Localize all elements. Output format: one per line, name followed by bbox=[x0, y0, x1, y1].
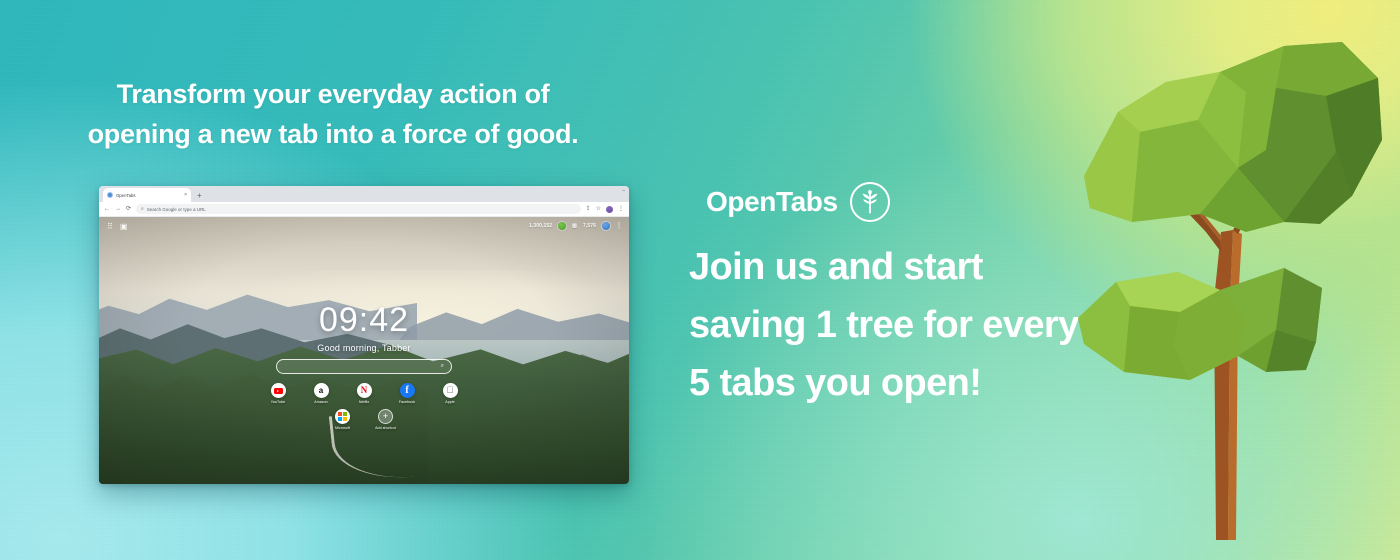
tree-in-circle-icon bbox=[850, 182, 890, 222]
shortcut-label: Microsoft bbox=[335, 426, 350, 430]
shortcut-netflix[interactable]: N Netflix bbox=[348, 383, 380, 404]
clock-block: 09:42 Good morning, Tabber bbox=[99, 303, 629, 353]
apple-icon:  bbox=[443, 383, 458, 398]
youtube-icon bbox=[271, 383, 286, 398]
shortcut-tiles: YouTube a Amazon N Netflix f Facebook  … bbox=[254, 383, 474, 430]
left-headline-line-1: Transform your everyday action of bbox=[0, 74, 666, 114]
omnibox-placeholder: Search Google or type a URL bbox=[147, 207, 206, 212]
tabs-opened-icon: ▥ bbox=[572, 224, 577, 229]
menu-icon[interactable]: ⋮ bbox=[618, 206, 624, 212]
plus-icon: + bbox=[378, 409, 393, 424]
tab-close-icon[interactable]: × bbox=[184, 193, 187, 198]
shortcut-label: Apple bbox=[445, 400, 454, 404]
shortcut-label: Facebook bbox=[399, 400, 415, 404]
window-minimize-button[interactable]: – bbox=[622, 189, 625, 194]
browser-tab-opentabs[interactable]: OpenTabs × bbox=[103, 188, 191, 202]
toolbar-actions: ⇪ ☆ ⋮ bbox=[586, 206, 624, 213]
ntp-menu-icon[interactable]: ⋮ bbox=[616, 223, 622, 229]
promo-banner: Transform your everyday action of openin… bbox=[0, 0, 1400, 560]
bookmark-icon[interactable]: ☆ bbox=[596, 206, 601, 212]
new-tab-button[interactable]: + bbox=[197, 192, 202, 200]
side-panel-icon[interactable]: ▣ bbox=[120, 223, 128, 231]
omnibox-search-icon: ⌕ bbox=[141, 206, 144, 212]
ntp-search-input[interactable]: ⌕ bbox=[276, 359, 452, 374]
facebook-icon: f bbox=[400, 383, 415, 398]
browser-toolbar: ← → ⟳ ⌕ Search Google or type a URL ⇪ ☆ … bbox=[99, 202, 629, 217]
ntp-counters: 1,300,152 ▥ 7,576 ⋮ bbox=[529, 222, 622, 230]
brand-lockup: OpenTabs bbox=[706, 182, 890, 222]
microsoft-icon bbox=[335, 409, 350, 424]
shortcut-label: Netflix bbox=[359, 400, 369, 404]
tabs-opened-count: 7,576 bbox=[583, 224, 596, 229]
netflix-icon: N bbox=[357, 383, 372, 398]
shortcut-microsoft[interactable]: Microsoft bbox=[327, 409, 359, 430]
tab-favicon-icon bbox=[107, 192, 113, 198]
profile-avatar[interactable] bbox=[606, 206, 613, 213]
trees-planted-count: 1,300,152 bbox=[529, 224, 552, 229]
shortcut-add[interactable]: + Add shortcut bbox=[370, 409, 402, 430]
apps-grid-icon[interactable]: ⠿ bbox=[107, 223, 113, 231]
shortcut-label: Amazon bbox=[314, 400, 327, 404]
ntp-user-avatar[interactable] bbox=[602, 222, 610, 230]
back-icon[interactable]: ← bbox=[104, 206, 110, 212]
address-bar[interactable]: ⌕ Search Google or type a URL bbox=[136, 204, 581, 214]
tab-title: OpenTabs bbox=[116, 193, 181, 198]
amazon-icon: a bbox=[314, 383, 329, 398]
left-headline: Transform your everyday action of openin… bbox=[0, 74, 666, 154]
clock-time: 09:42 bbox=[99, 303, 629, 337]
brand-wordmark: OpenTabs bbox=[706, 188, 838, 216]
window-controls: – bbox=[622, 189, 625, 194]
tree-canopy-lower bbox=[1078, 268, 1322, 380]
browser-window-mockup: OpenTabs × + – ← → ⟳ ⌕ Search Google or … bbox=[99, 186, 629, 484]
new-tab-page: ⠿ ▣ 1,300,152 ▥ 7,576 ⋮ 09:42 Good morni… bbox=[99, 217, 629, 484]
shortcut-label: Add shortcut bbox=[375, 426, 396, 430]
low-poly-tree-illustration bbox=[1070, 0, 1400, 560]
tree-canopy-upper bbox=[1084, 42, 1382, 232]
search-icon: ⌕ bbox=[441, 363, 444, 370]
ntp-top-left-controls: ⠿ ▣ bbox=[107, 223, 127, 231]
share-icon[interactable]: ⇪ bbox=[586, 206, 591, 212]
shortcut-apple[interactable]:  Apple bbox=[434, 383, 466, 404]
reload-icon[interactable]: ⟳ bbox=[126, 206, 131, 212]
browser-tab-strip: OpenTabs × + – bbox=[99, 186, 629, 202]
left-headline-line-2: opening a new tab into a force of good. bbox=[0, 114, 666, 154]
greeting-text: Good morning, Tabber bbox=[99, 343, 629, 353]
tree-counter-icon bbox=[558, 222, 566, 230]
shortcut-youtube[interactable]: YouTube bbox=[262, 383, 294, 404]
shortcut-label: YouTube bbox=[271, 400, 285, 404]
forward-icon[interactable]: → bbox=[115, 206, 121, 212]
shortcut-facebook[interactable]: f Facebook bbox=[391, 383, 423, 404]
shortcut-amazon[interactable]: a Amazon bbox=[305, 383, 337, 404]
